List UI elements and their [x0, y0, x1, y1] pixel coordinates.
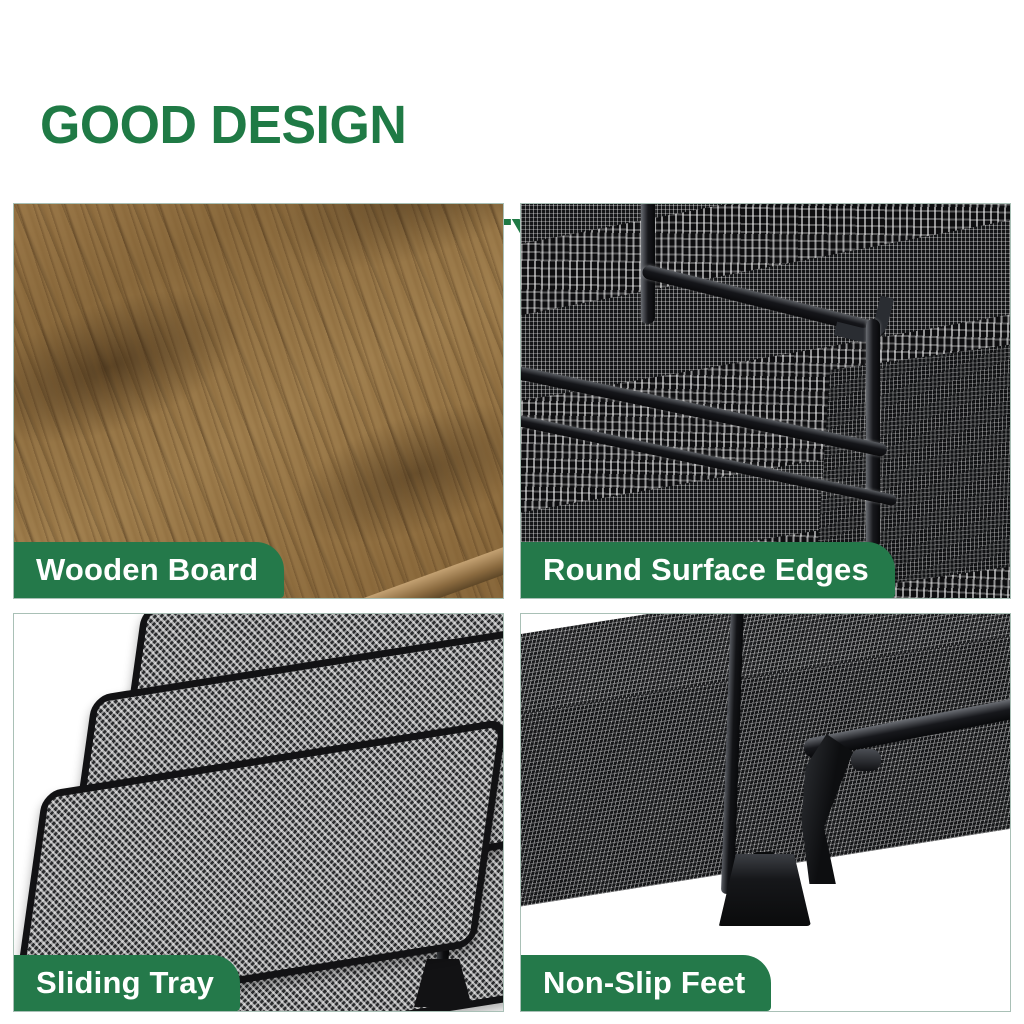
feature-label-text: Non-Slip Feet — [543, 965, 745, 1001]
feature-panel-non-slip-feet: Non-Slip Feet — [520, 613, 1011, 1012]
feature-label-text: Sliding Tray — [36, 965, 214, 1001]
rivet-knob — [851, 749, 881, 771]
product-photo-non-slip-feet — [521, 614, 1010, 1011]
headline-line-1: GOOD DESIGN — [40, 97, 827, 154]
vertical-tube-rail — [641, 204, 655, 324]
feature-panel-wooden-board: Wooden Board — [13, 203, 504, 599]
feature-label-banner-round-surface-edges: Round Surface Edges — [521, 542, 895, 598]
feature-label-banner-wooden-board: Wooden Board — [14, 542, 284, 598]
product-photo-wooden-board — [14, 204, 503, 598]
feature-label-banner-sliding-tray: Sliding Tray — [14, 955, 240, 1011]
feature-panel-sliding-tray: Sliding Tray — [13, 613, 504, 1012]
feature-label-banner-non-slip-feet: Non-Slip Feet — [521, 955, 771, 1011]
product-photo-sliding-tray — [14, 614, 503, 1011]
product-photo-round-surface-edges — [521, 204, 1010, 598]
wooden-board-surface — [14, 204, 503, 598]
feature-label-text: Round Surface Edges — [543, 552, 869, 588]
feature-label-text: Wooden Board — [36, 552, 258, 588]
feature-panel-grid: Wooden Board Round Surface Edges — [13, 203, 1011, 1012]
vertical-tube-rail-right — [866, 319, 880, 549]
feature-panel-round-surface-edges: Round Surface Edges — [520, 203, 1011, 599]
